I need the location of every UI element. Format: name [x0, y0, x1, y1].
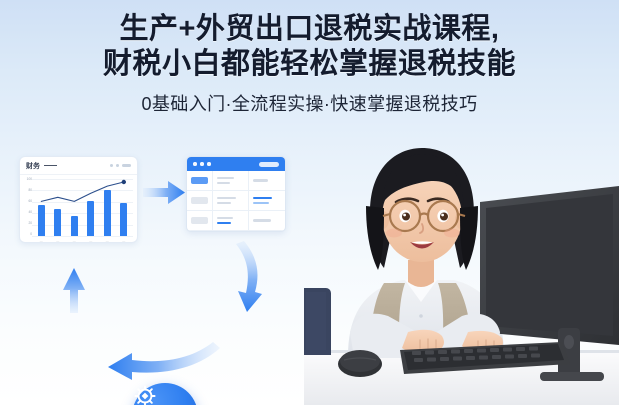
export-table-card: [186, 156, 286, 232]
chart-header-dot-3: [122, 164, 131, 168]
table-chip: [191, 177, 208, 184]
chart-card-header: 财务: [20, 157, 137, 175]
table-chip: [191, 217, 208, 224]
table-row: [187, 191, 213, 211]
instructor-illustration: [304, 120, 619, 405]
chart-x-axis: ——————: [33, 237, 132, 243]
table-line: [217, 217, 233, 220]
table-line-highlight: [253, 197, 272, 200]
process-cycle-diagram: 财务 100806040200 ——————: [0, 140, 310, 405]
table-row: [249, 171, 285, 191]
headline-block: 生产+外贸出口退税实战课程, 财税小白都能轻松掌握退税技能 0基础入门·全流程实…: [0, 12, 619, 115]
arrow-chart-to-table-icon: [143, 181, 185, 204]
chart-header-dot-1: [110, 164, 113, 167]
chart-bar: [38, 205, 45, 236]
chart-x-tick: —: [56, 239, 59, 243]
table-chip: [191, 197, 208, 204]
window-dot-3: [207, 162, 211, 166]
table-line: [217, 177, 234, 180]
arrow-table-to-flow-icon: [236, 241, 262, 312]
table-line-highlight: [217, 222, 231, 225]
chart-x-tick: —: [73, 239, 76, 243]
chart-bar: [120, 203, 127, 236]
window-title-pill: [259, 162, 279, 167]
arrow-flow-to-clipboard-icon: [108, 342, 220, 380]
chart-bars: [33, 184, 132, 236]
chart-header-dash-1: [44, 165, 57, 166]
chart-bar: [54, 209, 61, 236]
chart-bar: [104, 190, 111, 236]
finance-chart-card: 财务 100806040200 ——————: [19, 156, 138, 243]
gear-target-icon: [132, 383, 158, 405]
table-line: [217, 182, 230, 185]
instructor-photo: [304, 120, 619, 405]
chart-plot-area: 100806040200 ——————: [20, 175, 137, 243]
table-line: [217, 197, 236, 200]
chart-bar: [71, 216, 78, 236]
chart-x-tick: —: [89, 239, 92, 243]
computer-mouse: [338, 350, 382, 377]
chart-x-tick: —: [40, 239, 43, 243]
table-row: [187, 171, 213, 191]
chart-x-tick: —: [122, 239, 125, 243]
chart-gridline: [32, 179, 133, 180]
table-line: [217, 202, 231, 205]
headline-line-1: 生产+外贸出口退税实战课程,: [0, 12, 619, 47]
chart-y-axis: 100806040200: [22, 178, 32, 236]
table-row: [187, 211, 213, 231]
table-row: [213, 191, 249, 211]
chart-bar: [87, 201, 94, 236]
table-row: [213, 171, 249, 191]
arrow-clipboard-to-chart-icon: [63, 268, 85, 313]
instructor-neck: [408, 260, 434, 287]
table-line: [253, 179, 268, 182]
chart-header-dot-2: [116, 164, 119, 167]
chart-header-dots: [110, 164, 131, 168]
chart-x-tick: —: [106, 239, 109, 243]
headline-line-2: 财税小白都能轻松掌握退税技能: [0, 47, 619, 82]
chart-card-title: 财务: [26, 161, 40, 171]
table-row: [249, 191, 285, 211]
monitor-base: [540, 372, 604, 381]
table-row: [249, 211, 285, 231]
table-line: [253, 219, 271, 222]
table-card-titlebar: [187, 157, 285, 171]
table-card-grid: [187, 171, 285, 231]
table-line: [253, 202, 269, 205]
headline-subtitle: 0基础入门·全流程实操·快速掌握退税技巧: [0, 93, 619, 115]
window-dot-1: [193, 162, 197, 166]
poster-root: 生产+外贸出口退税实战课程, 财税小白都能轻松掌握退税技能 0基础入门·全流程实…: [0, 0, 619, 405]
table-row: [213, 211, 249, 231]
window-dot-2: [200, 162, 204, 166]
